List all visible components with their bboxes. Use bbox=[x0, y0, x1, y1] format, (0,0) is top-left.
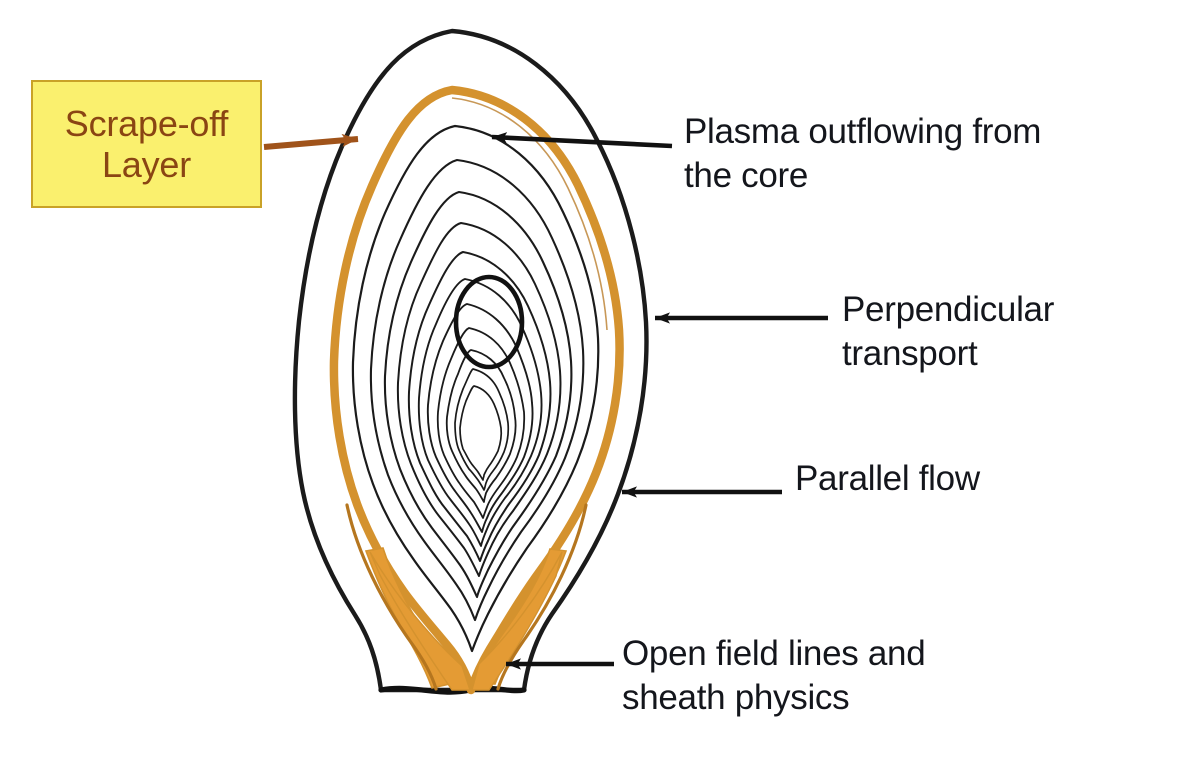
annotation-open-field-lines: Open field lines and sheath physics bbox=[622, 632, 925, 720]
annotation-plasma-outflow-line-2: the core bbox=[684, 154, 1041, 198]
annotation-perpendicular-transport: Perpendicular transport bbox=[842, 288, 1054, 376]
annotation-plasma-outflow-line-1: Plasma outflowing from bbox=[684, 110, 1041, 154]
scrape-off-layer-callout: Scrape-off Layer bbox=[31, 80, 262, 208]
annotation-perpendicular-transport-line-1: Perpendicular bbox=[842, 288, 1054, 332]
scrape-off-layer-band bbox=[334, 90, 620, 690]
callout-line-1: Scrape-off bbox=[65, 103, 228, 144]
annotation-open-field-lines-line-2: sheath physics bbox=[622, 676, 925, 720]
diagram-canvas: Scrape-off Layer Plasma outflowing from … bbox=[0, 0, 1197, 774]
leader-plasma-outflow bbox=[492, 137, 672, 146]
annotation-open-field-lines-line-1: Open field lines and bbox=[622, 632, 925, 676]
annotation-plasma-outflow: Plasma outflowing from the core bbox=[684, 110, 1041, 198]
annotation-parallel-flow-line-1: Parallel flow bbox=[795, 457, 980, 501]
annotation-parallel-flow: Parallel flow bbox=[795, 457, 980, 501]
annotation-perpendicular-transport-line-2: transport bbox=[842, 332, 1054, 376]
callout-line-2: Layer bbox=[102, 144, 191, 185]
magnetic-axis-core-oval bbox=[456, 277, 522, 367]
